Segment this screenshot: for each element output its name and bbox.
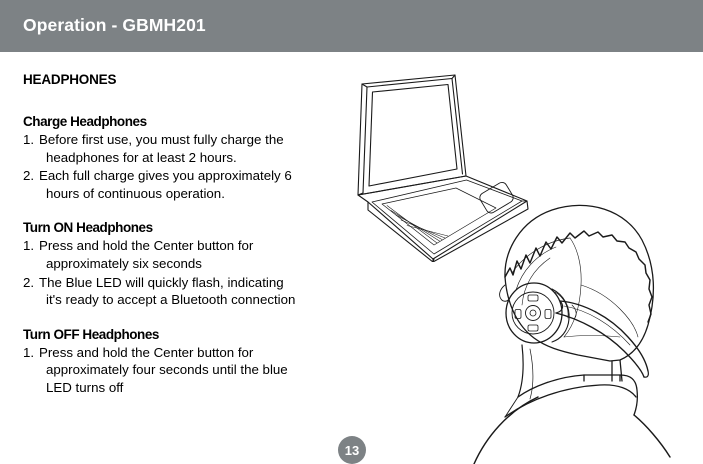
step-text: Press and hold the Center button for app… xyxy=(39,344,333,397)
list-item: 1. Press and hold the Center button for … xyxy=(23,344,333,397)
step-line: approximately four seconds until the blu… xyxy=(39,361,333,379)
step-line: headphones for at least 2 hours. xyxy=(39,149,333,167)
step-number: 1. xyxy=(23,344,39,397)
step-line: Press and hold the Center button for xyxy=(39,238,253,253)
step-line: it's ready to accept a Bluetooth connect… xyxy=(39,291,333,309)
step-line: The Blue LED will quickly flash, indicat… xyxy=(39,275,284,290)
step-line: hours of continuous operation. xyxy=(39,185,333,203)
section-title: Charge Headphones xyxy=(23,114,333,130)
section-turn-on-headphones: Turn ON Headphones 1. Press and hold the… xyxy=(23,220,333,308)
step-line: approximately six seconds xyxy=(39,255,333,273)
step-text: Before first use, you must fully charge … xyxy=(39,131,333,166)
page-number-badge: 13 xyxy=(338,436,366,464)
step-number: 2. xyxy=(23,274,39,309)
page-title: Operation - GBMH201 xyxy=(23,15,206,36)
section-title: Turn OFF Headphones xyxy=(23,327,333,343)
step-list: 1. Before first use, you must fully char… xyxy=(23,131,333,202)
header-bar: Operation - GBMH201 xyxy=(0,0,703,52)
person-with-headphones-illustration xyxy=(460,185,703,464)
section-turn-off-headphones: Turn OFF Headphones 1. Press and hold th… xyxy=(23,327,333,397)
step-list: 1. Press and hold the Center button for … xyxy=(23,344,333,397)
list-item: 1. Press and hold the Center button for … xyxy=(23,237,333,272)
step-list: 1. Press and hold the Center button for … xyxy=(23,237,333,308)
step-text: Press and hold the Center button for app… xyxy=(39,237,333,272)
step-number: 1. xyxy=(23,237,39,272)
step-line: Before first use, you must fully charge … xyxy=(39,132,284,147)
step-number: 2. xyxy=(23,167,39,202)
section-charge-headphones: Charge Headphones 1. Before first use, y… xyxy=(23,114,333,202)
step-text: The Blue LED will quickly flash, indicat… xyxy=(39,274,333,309)
step-line: LED turns off xyxy=(39,379,333,397)
section-title: Turn ON Headphones xyxy=(23,220,333,236)
list-item: 2. Each full charge gives you approximat… xyxy=(23,167,333,202)
instructions-column: HEADPHONES Charge Headphones 1. Before f… xyxy=(23,72,333,415)
step-number: 1. xyxy=(23,131,39,166)
list-item: 2. The Blue LED will quickly flash, indi… xyxy=(23,274,333,309)
step-line: Press and hold the Center button for xyxy=(39,345,253,360)
main-heading: HEADPHONES xyxy=(23,72,333,88)
list-item: 1. Before first use, you must fully char… xyxy=(23,131,333,166)
step-line: Each full charge gives you approximately… xyxy=(39,168,292,183)
step-text: Each full charge gives you approximately… xyxy=(39,167,333,202)
